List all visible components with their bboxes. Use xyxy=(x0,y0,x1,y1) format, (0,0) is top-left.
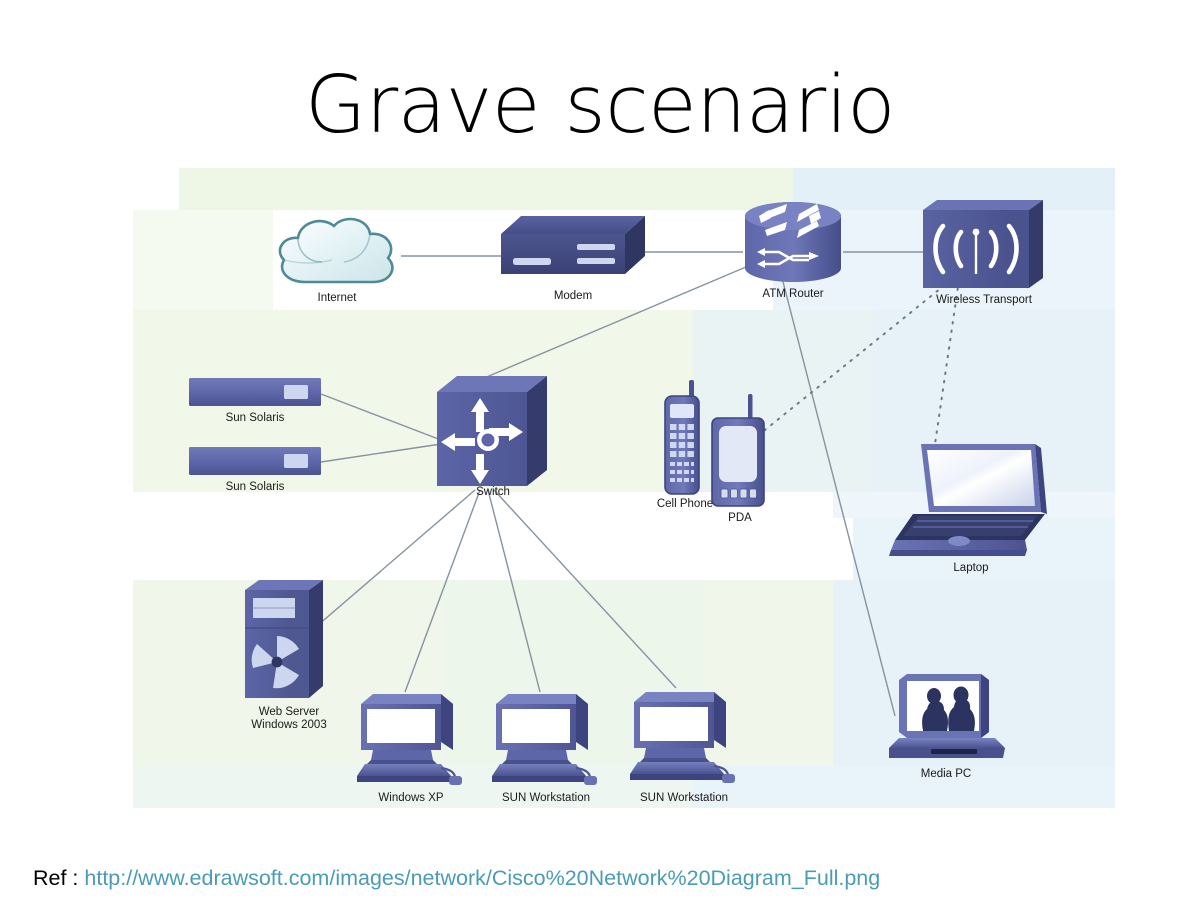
node-internet[interactable]: Internet xyxy=(269,208,405,306)
node-label-pda: PDA xyxy=(692,512,788,525)
node-sun-solaris-1[interactable]: Sun Solaris xyxy=(189,376,321,428)
reference-footer: Ref : http://www.edrawsoft.com/images/ne… xyxy=(33,866,880,891)
modem-icon xyxy=(493,208,653,290)
router-icon xyxy=(735,196,851,288)
node-windows-xp[interactable]: Windows XP xyxy=(355,690,467,810)
node-laptop[interactable]: Laptop xyxy=(885,440,1057,590)
node-label-sun-workstation-1: SUN Workstation xyxy=(468,792,624,805)
node-cell-phone[interactable]: Cell Phone xyxy=(657,380,713,510)
desktop-pc-icon xyxy=(355,690,467,790)
node-sun-solaris-2[interactable]: Sun Solaris xyxy=(189,445,321,497)
node-media-pc[interactable]: Media PC xyxy=(885,668,1007,788)
node-label-sun-solaris-2: Sun Solaris xyxy=(189,481,321,494)
link-switch-sunws1 xyxy=(488,490,540,692)
node-label-wireless-transport: Wireless Transport xyxy=(899,294,1069,307)
node-switch[interactable]: Switch xyxy=(433,374,551,508)
node-label-windows-xp: Windows XP xyxy=(339,792,483,805)
node-label-media-pc: Media PC xyxy=(881,768,1011,781)
rack-server-icon xyxy=(189,445,321,477)
node-label-web-server: Web Server Windows 2003 xyxy=(207,706,371,732)
link-switch-sunws2 xyxy=(494,490,676,688)
cell-phone-icon xyxy=(657,380,713,498)
node-atm-router[interactable]: ATM Router xyxy=(735,196,851,306)
link-solaris1-switch xyxy=(321,394,441,440)
node-label-atm-router: ATM Router xyxy=(723,288,863,301)
network-diagram: Internet Modem xyxy=(133,168,1115,838)
page-title: Grave scenario xyxy=(0,66,1200,145)
node-sun-workstation-1[interactable]: SUN Workstation xyxy=(490,690,602,810)
node-wireless-transport[interactable]: Wireless Transport xyxy=(919,196,1049,306)
link-solaris2-switch xyxy=(321,444,441,462)
node-pda[interactable]: PDA xyxy=(706,392,774,522)
node-label-switch: Switch xyxy=(423,486,563,499)
wireless-transport-icon xyxy=(919,196,1049,296)
switch-icon xyxy=(433,374,551,494)
node-label-modem: Modem xyxy=(493,290,653,303)
node-sun-workstation-2[interactable]: SUN Workstation xyxy=(628,688,740,808)
desktop-pc-icon xyxy=(490,690,602,790)
node-label-internet: Internet xyxy=(269,292,405,305)
link-router-mediapc xyxy=(781,274,895,716)
pda-icon xyxy=(706,392,774,510)
desktop-pc-icon xyxy=(628,688,740,788)
laptop-icon xyxy=(885,440,1057,562)
reference-url[interactable]: http://www.edrawsoft.com/images/network/… xyxy=(84,866,880,890)
node-label-sun-workstation-2: SUN Workstation xyxy=(606,792,762,805)
node-web-server[interactable]: Web Server Windows 2003 xyxy=(241,578,337,738)
reference-label: Ref : xyxy=(33,866,84,890)
rack-server-icon xyxy=(189,376,321,408)
slide-canvas: Grave scenario xyxy=(0,0,1200,900)
tower-server-icon xyxy=(241,578,337,706)
node-modem[interactable]: Modem xyxy=(493,208,653,306)
media-pc-icon xyxy=(885,668,1007,768)
node-label-laptop: Laptop xyxy=(905,562,1037,575)
link-switch-winxp xyxy=(405,490,480,692)
node-label-sun-solaris-1: Sun Solaris xyxy=(189,412,321,425)
